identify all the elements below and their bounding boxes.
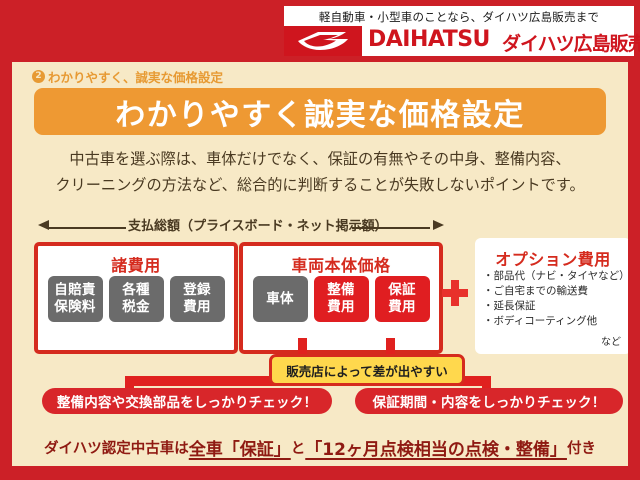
- section-paragraph: 中古車を選ぶ際は、車体だけでなく、保証の有無やその中身、整備内容、 クリーニング…: [40, 146, 600, 198]
- content-panel: 2 わかりやすく、誠実な価格設定 わかりやすく誠実な価格設定 中古車を選ぶ際は、…: [12, 62, 628, 466]
- cost-box-vehicle-title: 車両本体価格: [243, 252, 439, 276]
- header-white-plate: 軽自動車・小型車のことなら、ダイハツ広島販売まで DAIHATSU ダイハツ広島…: [284, 6, 634, 56]
- brand-name-latin: DAIHATSU: [368, 27, 490, 52]
- chip-line-2: 税金: [122, 299, 150, 316]
- paragraph-line-1: 中古車を選ぶ際は、車体だけでなく、保証の有無やその中身、整備内容、: [40, 146, 600, 172]
- tagline-part-5: 付き: [567, 437, 596, 458]
- chip-jibaiseki: 自賠責 保険料: [48, 276, 103, 322]
- bottom-red-border: [0, 466, 640, 480]
- paragraph-line-2: クリーニングの方法など、総合的に判断することが失敗しないポイントです。: [40, 172, 600, 198]
- callout-banner: 販売店によって差が出やすい: [269, 354, 465, 386]
- price-scale-arrow: 支払総額（プライスボード・ネット掲示額）: [34, 216, 444, 238]
- tagline-part-2: 全車「保証」: [189, 435, 291, 460]
- chip-registration: 登録 費用: [170, 276, 225, 322]
- options-title: オプション費用: [475, 246, 631, 270]
- cost-box-vehicle-chips: 車体 整備 費用 保証 費用: [243, 276, 439, 322]
- chip-line-1: 保証: [388, 282, 416, 299]
- page-title: わかりやすく誠実な価格設定: [115, 90, 525, 134]
- chip-line-1: 車体: [266, 291, 294, 308]
- list-item: ・ご自宅までの輸送費: [483, 284, 629, 299]
- chip-line-1: 各種: [122, 282, 150, 299]
- chip-line-2: 費用: [183, 299, 211, 316]
- tagline-part-4: 「12ヶ月点検相当の点検・整備」: [305, 435, 567, 460]
- check-pill-warranty: 保証期間・内容をしっかりチェック！: [355, 388, 623, 414]
- cost-box-misc-chips: 自賠責 保険料 各種 税金 登録 費用: [38, 276, 234, 322]
- chip-line-2: 費用: [327, 299, 355, 316]
- cost-box-vehicle: 車両本体価格 車体 整備 費用 保証 費用: [239, 242, 443, 354]
- tagline-part-3: と: [291, 437, 306, 458]
- right-red-border: [628, 62, 640, 466]
- daihatsu-d-emblem-icon: [284, 26, 362, 56]
- price-scale-caption: 支払総額（プライスボード・ネット掲示額）: [128, 216, 354, 238]
- plus-sign-icon: [442, 280, 468, 306]
- section-title-banner: わかりやすく誠実な価格設定: [34, 88, 606, 135]
- list-item: ・ボディコーティング他: [483, 314, 629, 329]
- header-tagline: 軽自動車・小型車のことなら、ダイハツ広島販売まで: [284, 8, 634, 26]
- chip-line-2: 費用: [388, 299, 416, 316]
- arrow-right-head-icon: [433, 220, 444, 230]
- chip-maintenance-fee: 整備 費用: [314, 276, 369, 322]
- chip-line-1: 自賠責: [54, 282, 95, 299]
- brand-name-jp: ダイハツ広島販売: [502, 29, 640, 56]
- list-item: ・延長保証: [483, 299, 629, 314]
- content-panel-inner: 2 わかりやすく、誠実な価格設定 わかりやすく誠実な価格設定 中古車を選ぶ際は、…: [12, 62, 628, 466]
- header-band: 軽自動車・小型車のことなら、ダイハツ広島販売まで DAIHATSU ダイハツ広島…: [0, 0, 640, 62]
- options-suffix: など: [601, 333, 621, 348]
- arrow-left-line: [48, 227, 126, 229]
- bottom-tagline: ダイハツ認定中古車は 全車「保証」 と 「12ヶ月点検相当の点検・整備」 付き: [12, 428, 628, 466]
- brand-logo-row: DAIHATSU ダイハツ広島販売: [284, 26, 634, 56]
- check-pill-maintenance: 整備内容や交換部品をしっかりチェック！: [42, 388, 332, 414]
- chip-warranty-fee: 保証 費用: [375, 276, 430, 322]
- chip-taxes: 各種 税金: [109, 276, 164, 322]
- section-small-label: 2 わかりやすく、誠実な価格設定: [32, 68, 223, 84]
- section-number-badge: 2: [32, 70, 45, 83]
- chip-line-1: 登録: [183, 282, 211, 299]
- options-panel: オプション費用 ・部品代（ナビ・タイヤなど） ・ご自宅までの輸送費 ・延長保証 …: [475, 238, 631, 354]
- chip-line-2: 保険料: [54, 299, 95, 316]
- list-item: ・部品代（ナビ・タイヤなど）: [483, 269, 629, 284]
- tagline-part-1: ダイハツ認定中古車は: [44, 437, 189, 458]
- cost-box-misc-title: 諸費用: [38, 252, 234, 276]
- advertisement-page: 軽自動車・小型車のことなら、ダイハツ広島販売まで DAIHATSU ダイハツ広島…: [0, 0, 640, 480]
- options-list: ・部品代（ナビ・タイヤなど） ・ご自宅までの輸送費 ・延長保証 ・ボディコーティ…: [483, 269, 629, 329]
- left-red-border: [0, 62, 12, 466]
- cost-box-misc: 諸費用 自賠責 保険料 各種 税金 登録 費用: [34, 242, 238, 354]
- arrow-right-line: [352, 227, 430, 229]
- chip-line-1: 整備: [327, 282, 355, 299]
- section-small-label-text: わかりやすく、誠実な価格設定: [48, 67, 223, 86]
- chip-body: 車体: [253, 276, 308, 322]
